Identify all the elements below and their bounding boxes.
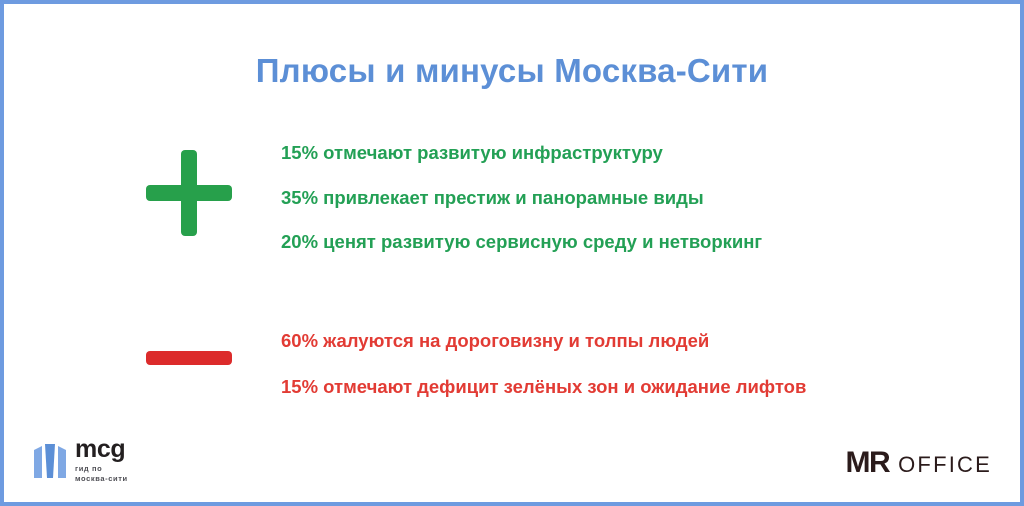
- pros-list: 15% отмечают развитую инфраструктуру 35%…: [246, 144, 934, 252]
- pros-sign-wrap: [134, 150, 246, 246]
- mr-office-wordmark: OFFICE: [898, 454, 992, 476]
- list-item: 60% жалуются на дороговизну и толпы люде…: [281, 332, 934, 351]
- plus-vertical-bar: [181, 150, 197, 236]
- mcg-towers-icon: [34, 444, 66, 478]
- list-item: 15% отмечают развитую инфраструктуру: [281, 144, 934, 163]
- cons-list: 60% жалуются на дороговизну и толпы люде…: [246, 332, 934, 396]
- cons-block: 60% жалуются на дороговизну и толпы люде…: [134, 316, 934, 412]
- slide-canvas: Плюсы и минусы Москва-Сити 15% отмечают …: [0, 0, 1024, 506]
- mcg-logo: mcg гид по москва-сити: [34, 438, 128, 484]
- mcg-tagline: гид по москва-сити: [75, 464, 128, 484]
- list-item: 35% привлекает престиж и панорамные виды: [281, 189, 934, 208]
- plus-sign-icon: [146, 150, 232, 236]
- list-item: 20% ценят развитую сервисную среду и нет…: [281, 233, 934, 252]
- mcg-tagline-line-2: москва-сити: [75, 474, 128, 484]
- mr-office-logo: MR OFFICE: [845, 448, 992, 478]
- list-item: 15% отмечают дефицит зелёных зон и ожида…: [281, 378, 934, 397]
- mcg-tagline-line-1: гид по: [75, 464, 128, 474]
- minus-sign-icon: [146, 351, 232, 365]
- mcg-text-block: mcg гид по москва-сити: [75, 438, 128, 484]
- pros-block: 15% отмечают развитую инфраструктуру 35%…: [134, 144, 934, 252]
- mr-monogram: MR: [845, 448, 889, 478]
- mcg-wordmark: mcg: [75, 438, 128, 462]
- page-title: Плюсы и минусы Москва-Сити: [4, 52, 1020, 90]
- cons-sign-wrap: [134, 316, 246, 412]
